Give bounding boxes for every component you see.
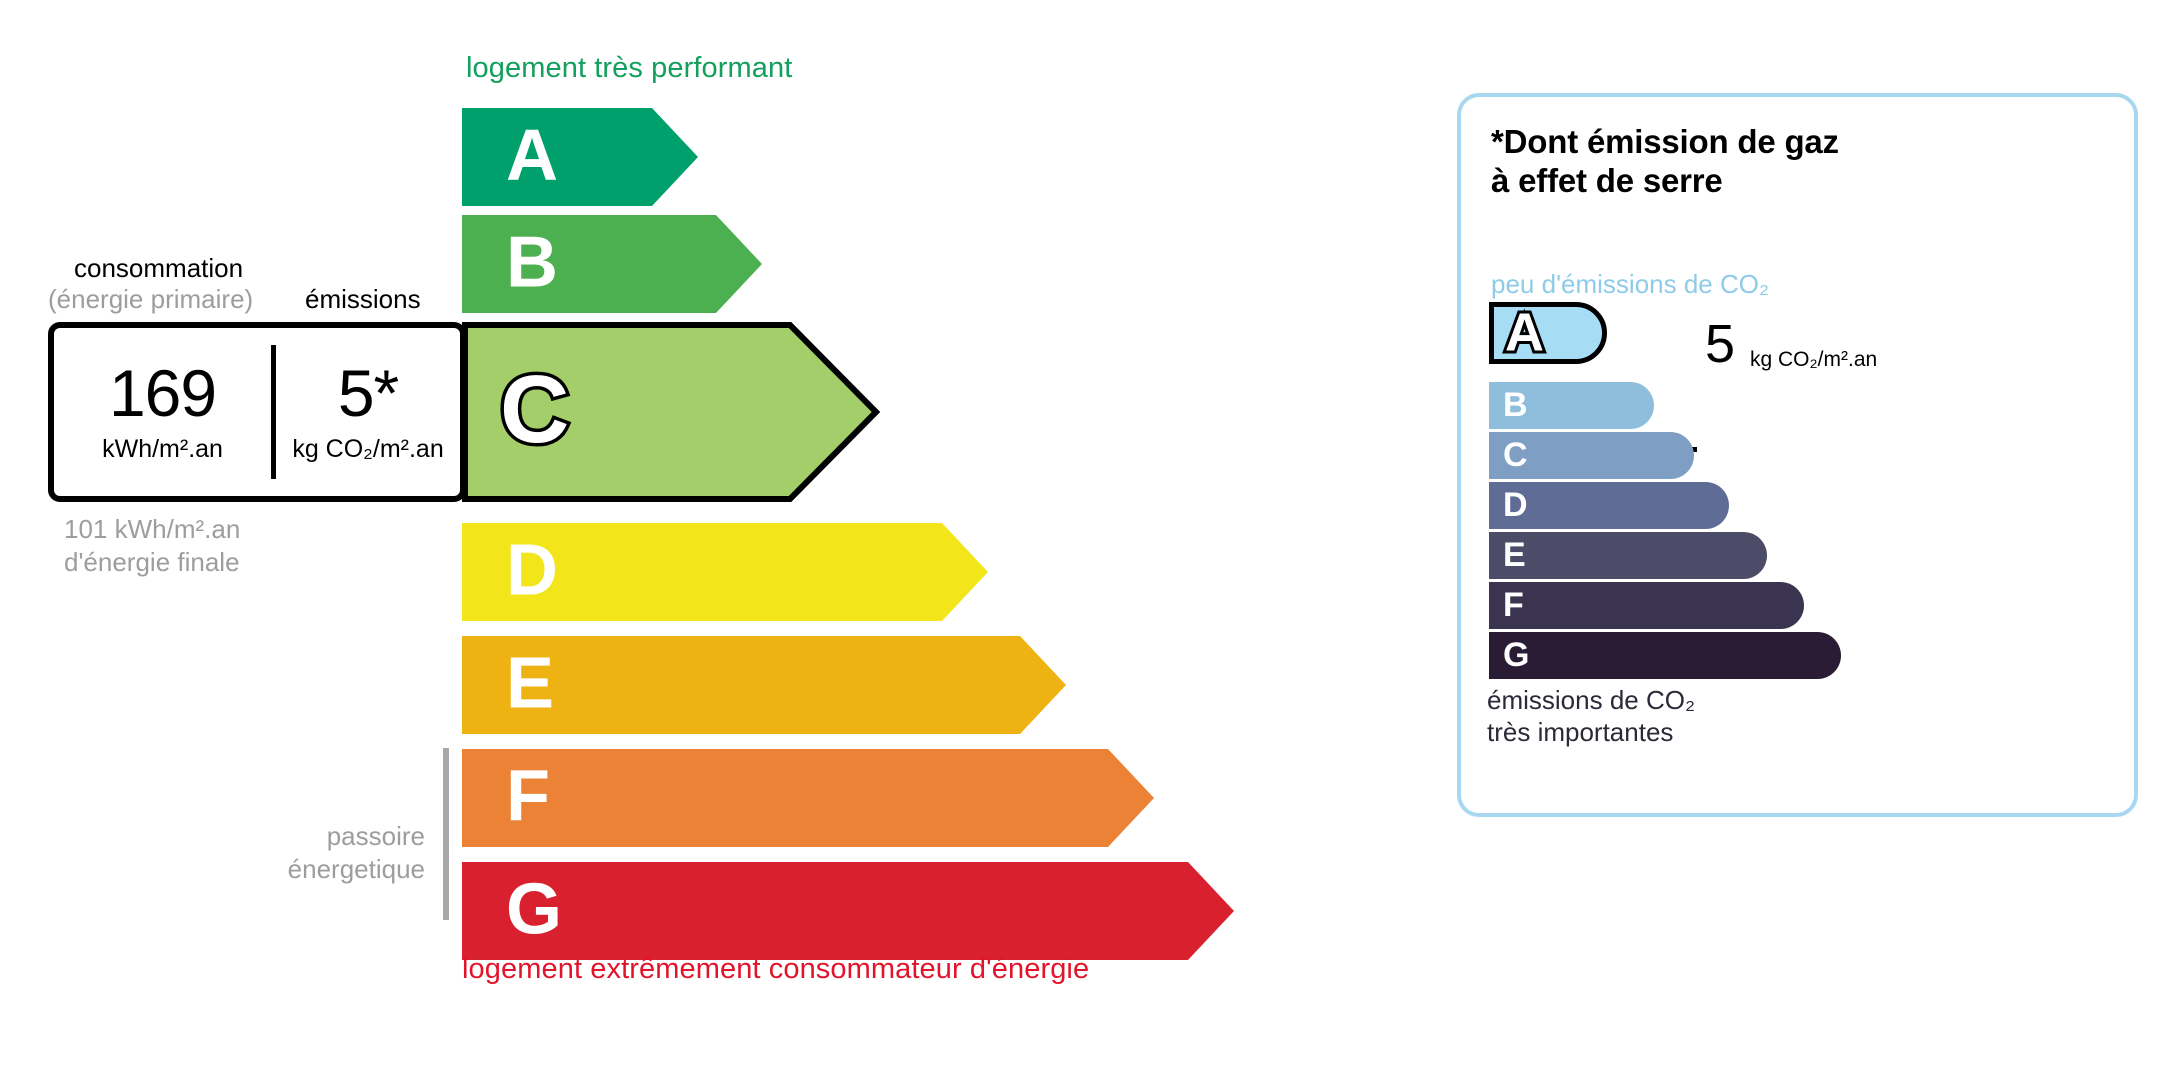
- co2-footer-line2: très importantes: [1487, 717, 1695, 749]
- co2-footer-line1: émissions de CO₂: [1487, 685, 1695, 717]
- co2-bar-E: [1489, 532, 1767, 579]
- co2-badge-letter: A: [1505, 305, 1544, 359]
- co2-bar-G: [1489, 632, 1841, 679]
- scale-top-caption: logement très performant: [466, 52, 792, 85]
- energy-class-row-C[interactable]: C: [462, 322, 880, 502]
- final-energy-line2: d'énergie finale: [64, 546, 240, 579]
- co2-bar-row-B[interactable]: B: [1489, 382, 1654, 429]
- co2-bar-row-E[interactable]: E: [1489, 532, 1767, 579]
- passoire-line1: passoire: [180, 820, 425, 853]
- co2-footer-label: émissions de CO₂ très importantes: [1487, 685, 1695, 748]
- energy-class-row-A[interactable]: A: [462, 108, 698, 206]
- co2-bar-letter-B: B: [1503, 387, 1528, 421]
- co2-bar-letter-D: D: [1503, 487, 1528, 521]
- passoire-bracket: [443, 748, 449, 920]
- co2-bar-row-G[interactable]: G: [1489, 632, 1841, 679]
- energy-class-letter-A: A: [506, 120, 558, 192]
- energy-class-letter-F: F: [506, 761, 550, 833]
- co2-panel-title: *Dont émission de gaz à effet de serre: [1491, 123, 1839, 200]
- passoire-label: passoire énergetique: [180, 820, 425, 886]
- caption-emissions: émissions: [305, 284, 421, 315]
- dpe-energy-scale-panel: logement très performant A B C D E: [0, 0, 1380, 1079]
- co2-bar-row-F[interactable]: F: [1489, 582, 1804, 629]
- energy-class-row-D[interactable]: D: [462, 523, 988, 621]
- energy-class-letter-D: D: [506, 535, 558, 607]
- energy-class-row-G[interactable]: G: [462, 862, 1234, 960]
- co2-bar-letter-C: C: [1503, 437, 1528, 471]
- energy-class-arrow-F: [462, 749, 1154, 847]
- measurement-value-box: 169 kWh/m².an 5* kg CO₂/m².an: [48, 322, 466, 502]
- co2-subtitle: peu d'émissions de CO₂: [1491, 269, 1769, 300]
- consumption-unit: kWh/m².an: [102, 435, 223, 464]
- co2-bar-row-D[interactable]: D: [1489, 482, 1729, 529]
- energy-class-arrow-G: [462, 862, 1234, 960]
- co2-bar-letter-E: E: [1503, 537, 1526, 571]
- energy-class-row-B[interactable]: B: [462, 215, 762, 313]
- final-energy-line1: 101 kWh/m².an: [64, 513, 240, 546]
- consumption-cell: 169 kWh/m².an: [54, 328, 271, 496]
- energy-class-arrow-A: [462, 108, 698, 206]
- caption-consommation: consommation: [74, 253, 243, 284]
- co2-bar-F: [1489, 582, 1804, 629]
- consumption-value: 169: [109, 360, 216, 426]
- scale-bottom-caption: logement extrêmement consommateur d'éner…: [462, 953, 1089, 986]
- energy-class-letter-B: B: [506, 227, 558, 299]
- co2-bar-letter-G: G: [1503, 637, 1529, 671]
- final-energy-note: 101 kWh/m².an d'énergie finale: [64, 513, 240, 579]
- co2-bar-letter-F: F: [1503, 587, 1524, 621]
- passoire-line2: énergetique: [180, 853, 425, 886]
- co2-title-line1: *Dont émission de gaz: [1491, 123, 1839, 162]
- co2-value-unit: kg CO₂/m².an: [1750, 348, 1877, 372]
- caption-energie-primaire: (énergie primaire): [48, 284, 253, 315]
- energy-class-row-E[interactable]: E: [462, 636, 1066, 734]
- co2-title-line2: à effet de serre: [1491, 162, 1839, 201]
- emission-unit: kg CO₂/m².an: [292, 435, 443, 464]
- emission-cell: 5* kg CO₂/m².an: [276, 328, 460, 496]
- co2-bar-row-C[interactable]: C: [1489, 432, 1694, 479]
- energy-class-letter-E: E: [506, 648, 554, 720]
- co2-emissions-panel: *Dont émission de gaz à effet de serre p…: [1457, 93, 2138, 817]
- emission-value: 5*: [338, 360, 398, 426]
- co2-value: 5: [1705, 317, 1735, 371]
- energy-class-letter-G: G: [506, 874, 562, 946]
- energy-class-row-F[interactable]: F: [462, 749, 1154, 847]
- energy-class-letter-C: C: [500, 362, 569, 458]
- co2-class-badge-A[interactable]: A: [1489, 302, 1607, 364]
